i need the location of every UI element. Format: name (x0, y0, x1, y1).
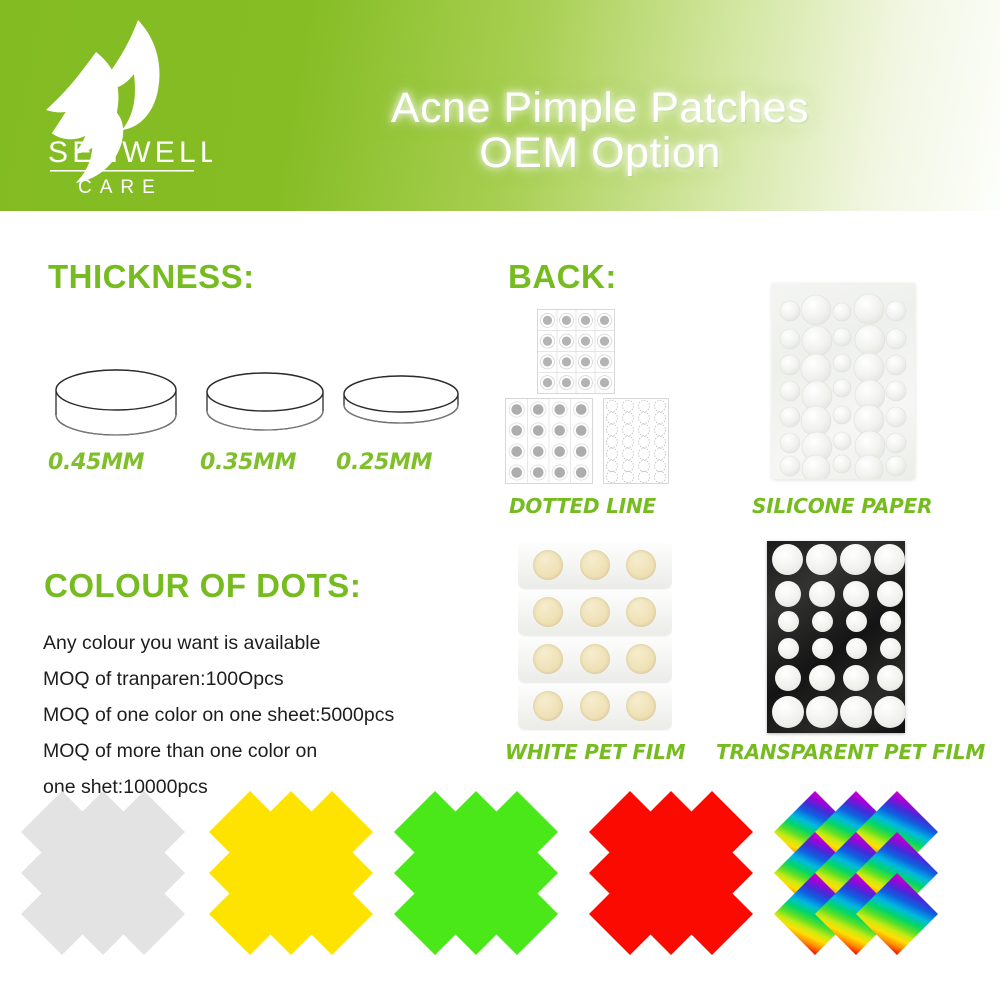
silicone-paper-photo (772, 283, 915, 479)
title-line-1: Acne Pimple Patches (250, 86, 950, 131)
caption-dotted-line: DOTTED LINE (509, 494, 656, 518)
thickness-disc-illustrations (40, 362, 480, 442)
page-title: Acne Pimple Patches OEM Option (250, 86, 950, 175)
white-pet-film-photo (518, 541, 672, 731)
colour-line-1: MOQ of tranparen:100Opcs (43, 661, 483, 697)
thickness-label-2: 0.25MM (336, 450, 432, 475)
colour-line-3: MOQ of more than one color on (43, 733, 483, 769)
title-line-2: OEM Option (250, 131, 950, 176)
disc-illustration-0.25mm (340, 374, 462, 436)
caption-white-pet-film: WHITE PET FILM (505, 740, 685, 764)
swatch-group-clear (45, 815, 215, 990)
heading-back: BACK: (508, 258, 617, 296)
heading-thickness: THICKNESS: (48, 258, 255, 296)
swatch-group-green (418, 815, 588, 990)
page-header: SENWELL CARE Acne Pimple Patches OEM Opt… (0, 0, 1000, 211)
dotted-line-sheet-left (505, 398, 593, 484)
thickness-label-1: 0.35MM (200, 450, 296, 475)
thickness-labels: 0.45MM 0.35MM 0.25MM (40, 450, 480, 480)
swatch-group-red (613, 815, 783, 990)
colour-line-2: MOQ of one color on one sheet:5000pcs (43, 697, 483, 733)
disc-illustration-0.35mm (203, 370, 327, 440)
caption-silicone-paper: SILICONE PAPER (752, 494, 932, 518)
senwell-care-logo: SENWELL CARE (30, 12, 212, 197)
colour-of-dots-description: Any colour you want is available MOQ of … (43, 625, 483, 805)
swatch-group-yellow (233, 815, 403, 990)
transparent-pet-film-photo (767, 541, 905, 733)
thickness-label-0: 0.45MM (48, 450, 144, 475)
swatch-group-rainbow (798, 815, 968, 990)
dotted-line-sheet-right (603, 398, 669, 484)
logo-brand-text: SENWELL (48, 136, 212, 169)
heading-colour-of-dots: COLOUR OF DOTS: (44, 567, 361, 605)
caption-transparent-pet-film: TRANSPARENT PET FILM (716, 740, 985, 764)
colour-line-0: Any colour you want is available (43, 625, 483, 661)
disc-illustration-0.45mm (52, 366, 180, 442)
logo-sub-text: CARE (78, 177, 163, 197)
dotted-line-sheet-top (537, 309, 615, 394)
